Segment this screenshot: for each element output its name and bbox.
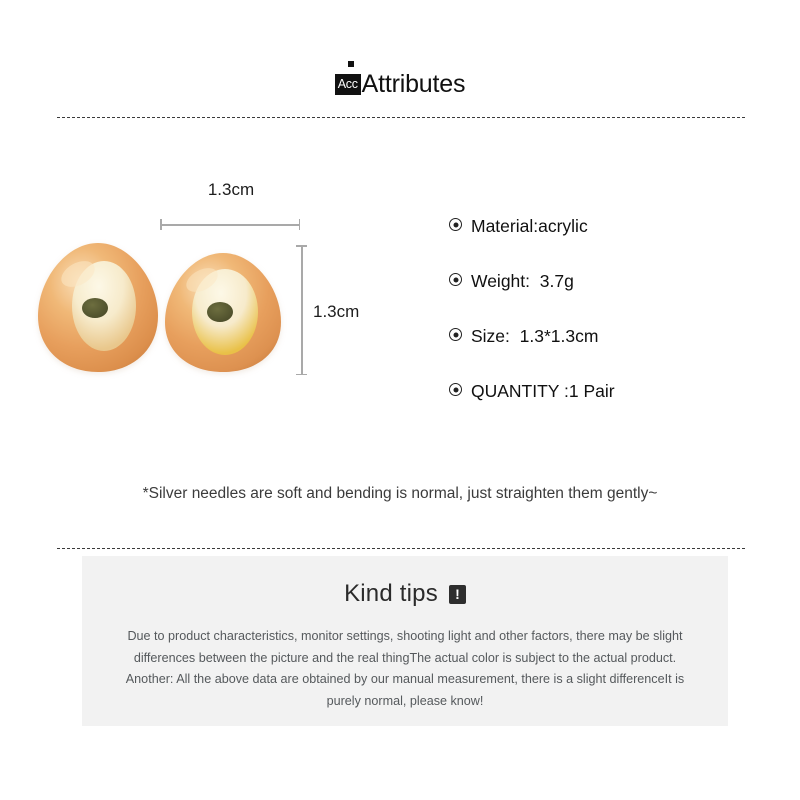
bullet-icon: [449, 273, 462, 286]
divider-bottom: [57, 548, 745, 549]
attribute-row-size: Size: 1.3*1.3cm: [449, 326, 779, 381]
attribute-list: Material: acrylic Weight: 3.7g Size: 1.3…: [449, 216, 779, 436]
bullet-icon: [449, 218, 462, 231]
attribute-value: acrylic: [538, 216, 588, 237]
dimension-height-label: 1.3cm: [313, 302, 359, 322]
attribute-label: QUANTITY :: [471, 381, 569, 402]
product-attributes-page: { "header": { "badge_text": "Acc", "titl…: [0, 0, 800, 800]
kind-tips-body: Due to product characteristics, monitor …: [114, 626, 696, 713]
dimension-width-label: 1.3cm: [158, 180, 304, 200]
decorative-square-icon: [348, 61, 354, 67]
earring-spot-left: [82, 298, 108, 318]
earring-spot-right: [207, 302, 233, 322]
attribute-row-material: Material: acrylic: [449, 216, 779, 271]
silver-needle-note: *Silver needles are soft and bending is …: [0, 485, 800, 503]
attribute-label: Size:: [471, 326, 510, 347]
attribute-row-weight: Weight: 3.7g: [449, 271, 779, 326]
attribute-label: Weight:: [471, 271, 530, 292]
dimension-width-line: [160, 224, 300, 226]
header-inner: Acc Attributes: [335, 72, 466, 97]
divider-top: [57, 117, 745, 118]
attribute-value: 1.3*1.3cm: [510, 326, 599, 347]
bullet-icon: [449, 328, 462, 341]
exclamation-icon: !: [449, 585, 466, 604]
product-image-earring-right: [162, 250, 284, 375]
dimension-height-line: [301, 245, 303, 375]
product-image-area: 1.3cm 1.3cm: [0, 180, 430, 410]
kind-tips-title: Kind tips: [344, 580, 438, 608]
kind-tips-panel: Kind tips ! Due to product characteristi…: [82, 556, 728, 726]
acc-badge: Acc: [335, 74, 361, 95]
kind-tips-heading: Kind tips !: [82, 580, 728, 608]
product-image-earring-left: [34, 240, 162, 375]
bullet-icon: [449, 383, 462, 396]
attribute-row-quantity: QUANTITY : 1 Pair: [449, 381, 779, 436]
attribute-value: 1 Pair: [569, 381, 615, 402]
attribute-label: Material:: [471, 216, 538, 237]
attribute-value: 3.7g: [530, 271, 574, 292]
page-header: Acc Attributes: [0, 72, 800, 97]
page-title: Attributes: [362, 72, 466, 97]
